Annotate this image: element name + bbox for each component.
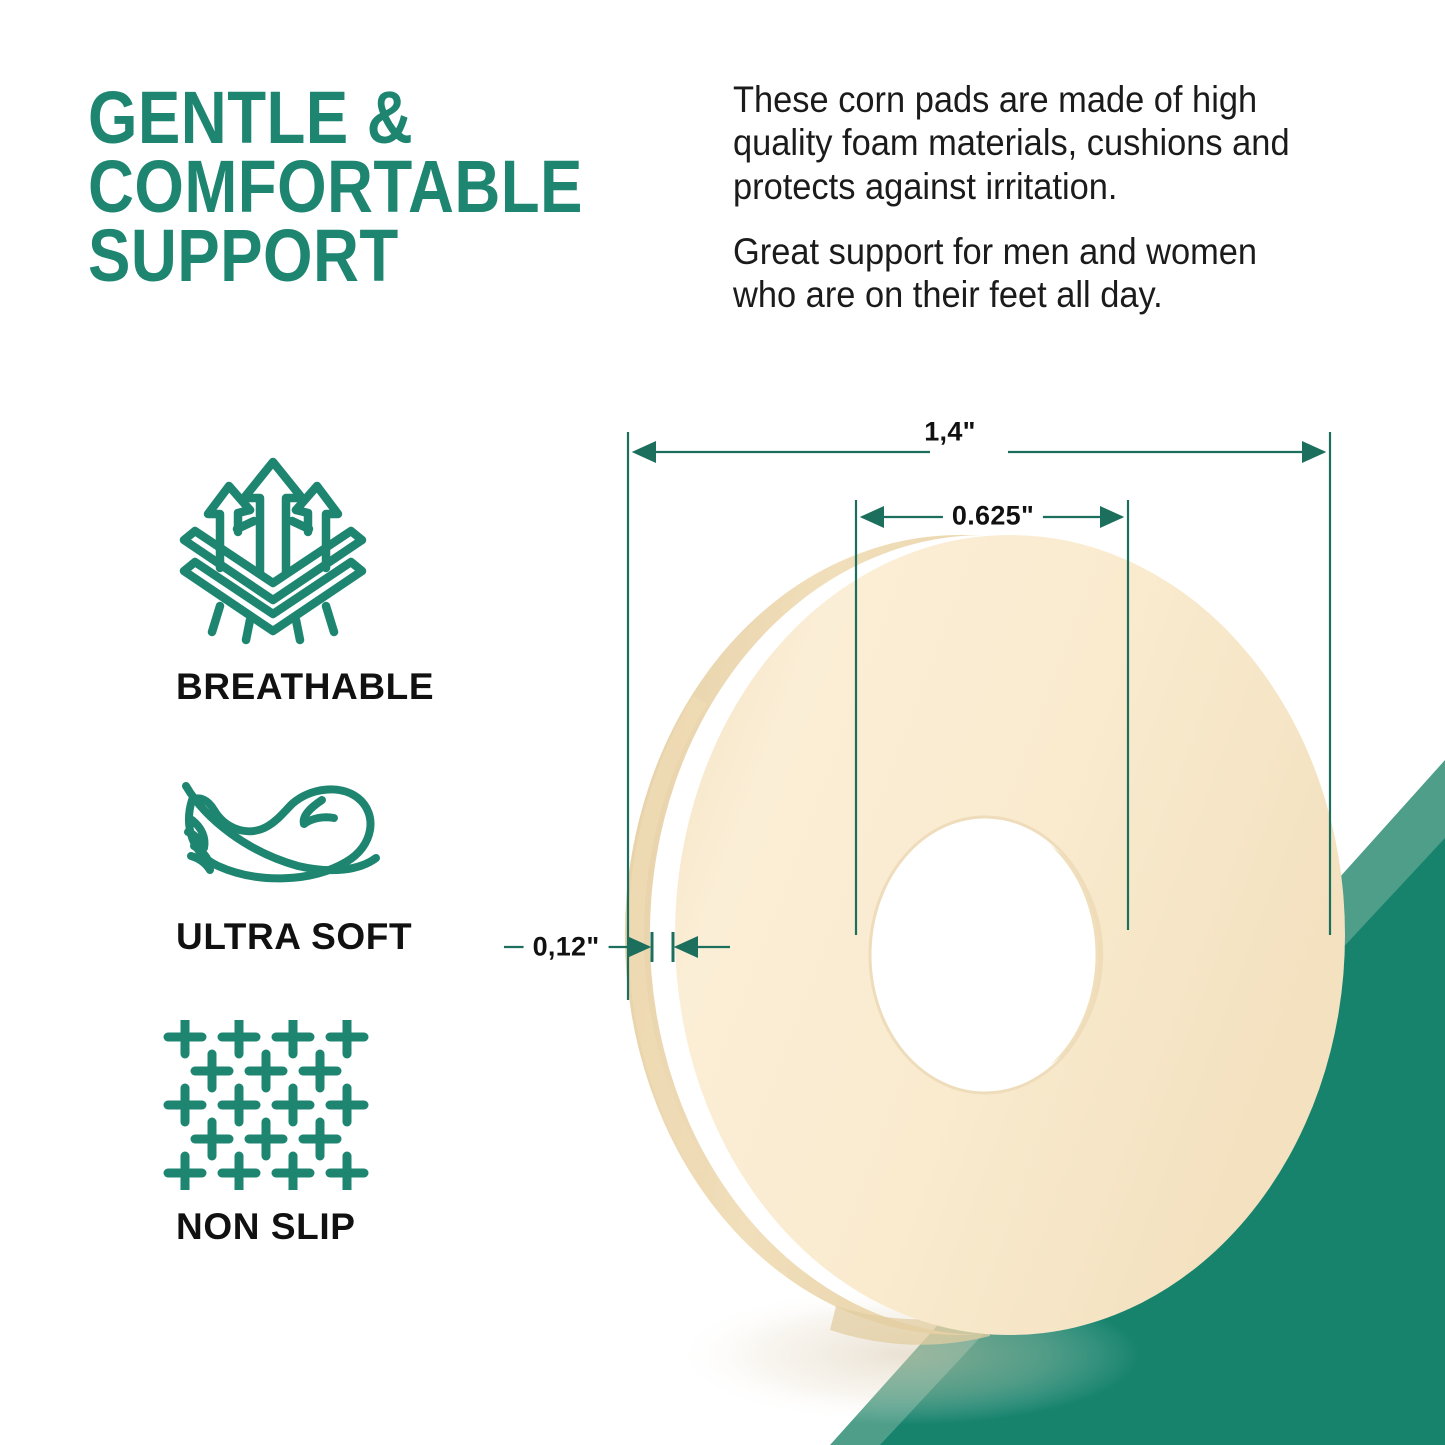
dimension-label-outer-diameter: 1,4": [915, 417, 985, 448]
product-diagram: [0, 0, 1445, 1445]
pad-center-hole: [870, 817, 1103, 1093]
infographic-canvas: GENTLE & COMFORTABLE SUPPORT These corn …: [0, 0, 1445, 1445]
dimension-label-thickness: 0,12": [524, 932, 609, 963]
dimension-label-inner-diameter: 0.625": [943, 501, 1043, 532]
